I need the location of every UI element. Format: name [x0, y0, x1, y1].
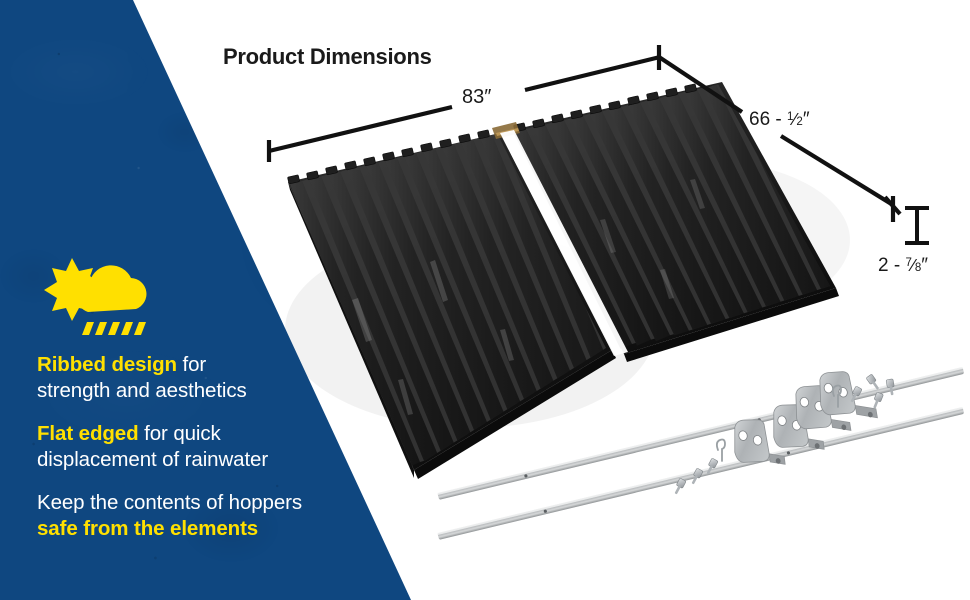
feature-highlight: Flat edged [37, 422, 139, 445]
feature-list: Ribbed design for strength and aesthetic… [37, 352, 367, 541]
feature-item-flat-edged: Flat edged for quick displacement of rai… [37, 421, 367, 472]
feature-line1: Keep the contents of hoppers [37, 491, 302, 514]
feature-line2: strength and aesthetics [37, 379, 247, 402]
infographic-canvas: 83″ 66 - 1⁄2″ 2 - 7⁄8″ Product Dimension… [0, 0, 970, 600]
feature-highlight: safe from the elements [37, 517, 258, 540]
feature-rest: for [177, 353, 206, 376]
feature-highlight: Ribbed design [37, 353, 177, 376]
sun-behind-rain-cloud-icon [38, 248, 162, 352]
feature-item-ribbed-design: Ribbed design for strength and aesthetic… [37, 352, 367, 403]
feature-rest: for quick [139, 422, 221, 445]
feature-item-safe-from-elements: Keep the contents of hoppers safe from t… [37, 490, 367, 541]
feature-line2: displacement of rainwater [37, 448, 268, 471]
page-title: Product Dimensions [223, 44, 432, 70]
